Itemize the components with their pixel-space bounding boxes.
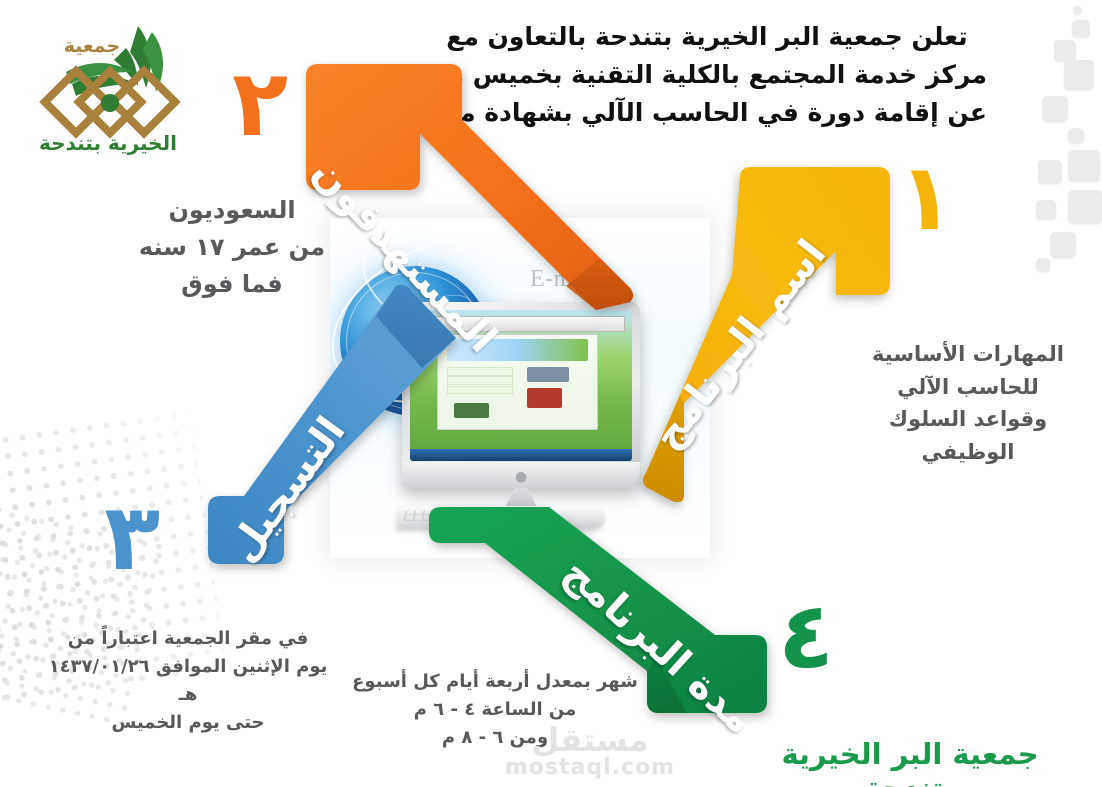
footer-brand: جمعية البر الخيرية بتندحة xyxy=(745,737,1075,787)
apple-logo-icon xyxy=(515,468,528,483)
desc-4-line-1: شهر بمعدل أربعة أيام كل أسبوع xyxy=(345,668,645,696)
logo-top-word: جمعية xyxy=(64,35,120,57)
desc-1-line-2: للحاسب الآلي xyxy=(844,371,1092,404)
desc-3-line-2: يوم الإثنين الموافق ١٤٣٧/٠١/٢٦ هـ xyxy=(38,653,338,709)
desc-4-line-2: من الساعة ٤ - ٦ م xyxy=(345,696,645,724)
decorative-squares xyxy=(1012,0,1102,290)
description-targeted-audience: السعوديون من عمر ١٧ سنه فما فوق xyxy=(118,192,346,304)
step-number-3: ٣ xyxy=(104,492,160,584)
step-number-4: ٤ xyxy=(778,590,834,682)
poster-canvas: جمعية الخيرية بتندحة تعلن جمعية البر الخ… xyxy=(0,0,1102,787)
desc-1-line-4: الوظيفي xyxy=(844,436,1092,469)
description-registration: في مقر الجمعية اعتباراً من يوم الإثنين ا… xyxy=(38,625,338,737)
desc-3-line-3: حتى يوم الخميس xyxy=(38,709,338,737)
arrow-targeted-audience: المستهدفون xyxy=(300,50,630,310)
desc-4-line-3: ومن ٦ - ٨ م xyxy=(345,724,645,752)
logo-bottom-word: الخيرية بتندحة xyxy=(39,131,177,155)
desc-1-line-1: المهارات الأساسية xyxy=(844,338,1092,371)
desc-2-line-1: السعوديون xyxy=(118,192,346,229)
step-number-2: ٢ xyxy=(232,58,288,150)
association-logo: جمعية الخيرية بتندحة xyxy=(26,14,191,164)
desc-2-line-2: من عمر ١٧ سنه xyxy=(118,229,346,266)
desc-3-line-1: في مقر الجمعية اعتباراً من xyxy=(38,625,338,653)
description-program-name: المهارات الأساسية للحاسب الآلي وقواعد ال… xyxy=(844,338,1092,468)
step-number-1: ١ xyxy=(898,152,954,244)
desc-1-line-3: وقواعد السلوك xyxy=(844,403,1092,436)
watermark-latin: mostaql.com xyxy=(440,756,740,780)
desc-2-line-3: فما فوق xyxy=(118,266,346,303)
description-program-duration: شهر بمعدل أربعة أيام كل أسبوع من الساعة … xyxy=(345,668,645,752)
